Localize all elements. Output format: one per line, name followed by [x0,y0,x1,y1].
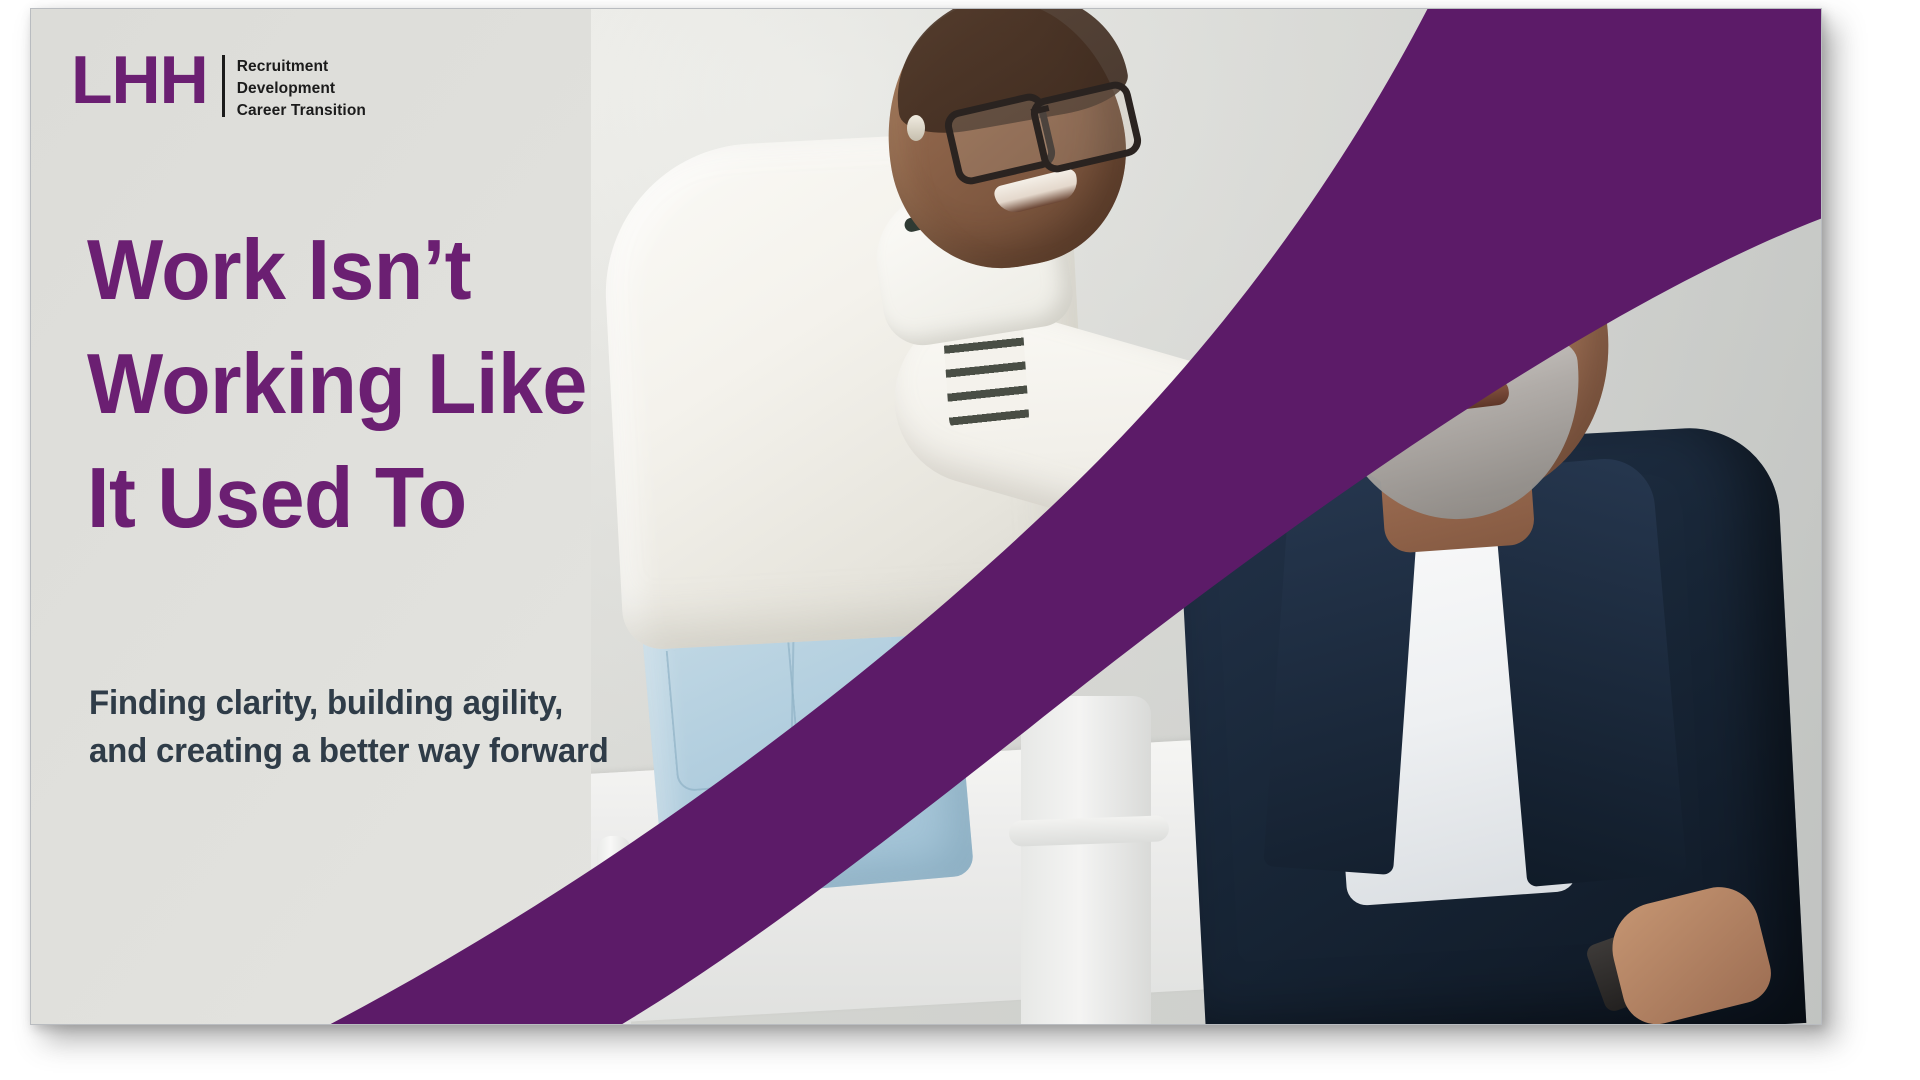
standing-woman-earring [907,115,925,141]
headline-line-2: Working Like [87,328,809,442]
chair-backrest [1021,696,1151,1024]
slide-subhead: Finding clarity, building agility, and c… [89,679,768,776]
slide-content: LHH Recruitment Development Career Trans… [31,9,1821,1024]
headline-line-1: Work Isn’t [87,214,809,328]
headline-line-3: It Used To [87,442,809,556]
logo-tagline-line-2: Development [237,78,366,100]
logo-tagline-line-1: Recruitment [237,56,366,78]
subhead-line-2: and creating a better way forward [89,727,768,775]
lhh-wordmark: LHH [71,51,208,109]
slide-headline: Work Isn’t Working Like It Used To [87,214,809,556]
seated-man-glasses-right-lens [1433,239,1558,339]
logo-divider-rule [222,55,225,117]
lhh-logo: LHH Recruitment Development Career Trans… [71,51,366,122]
logo-tagline-line-3: Career Transition [237,100,366,122]
desk-leg [597,836,631,1024]
presentation-slide: LHH Recruitment Development Career Trans… [30,8,1822,1025]
logo-tagline: Recruitment Development Career Transitio… [237,56,366,122]
screenshot-canvas: LHH Recruitment Development Career Trans… [0,0,1920,1080]
subhead-line-1: Finding clarity, building agility, [89,679,768,727]
seated-man-glasses-left-lens [1325,247,1450,347]
